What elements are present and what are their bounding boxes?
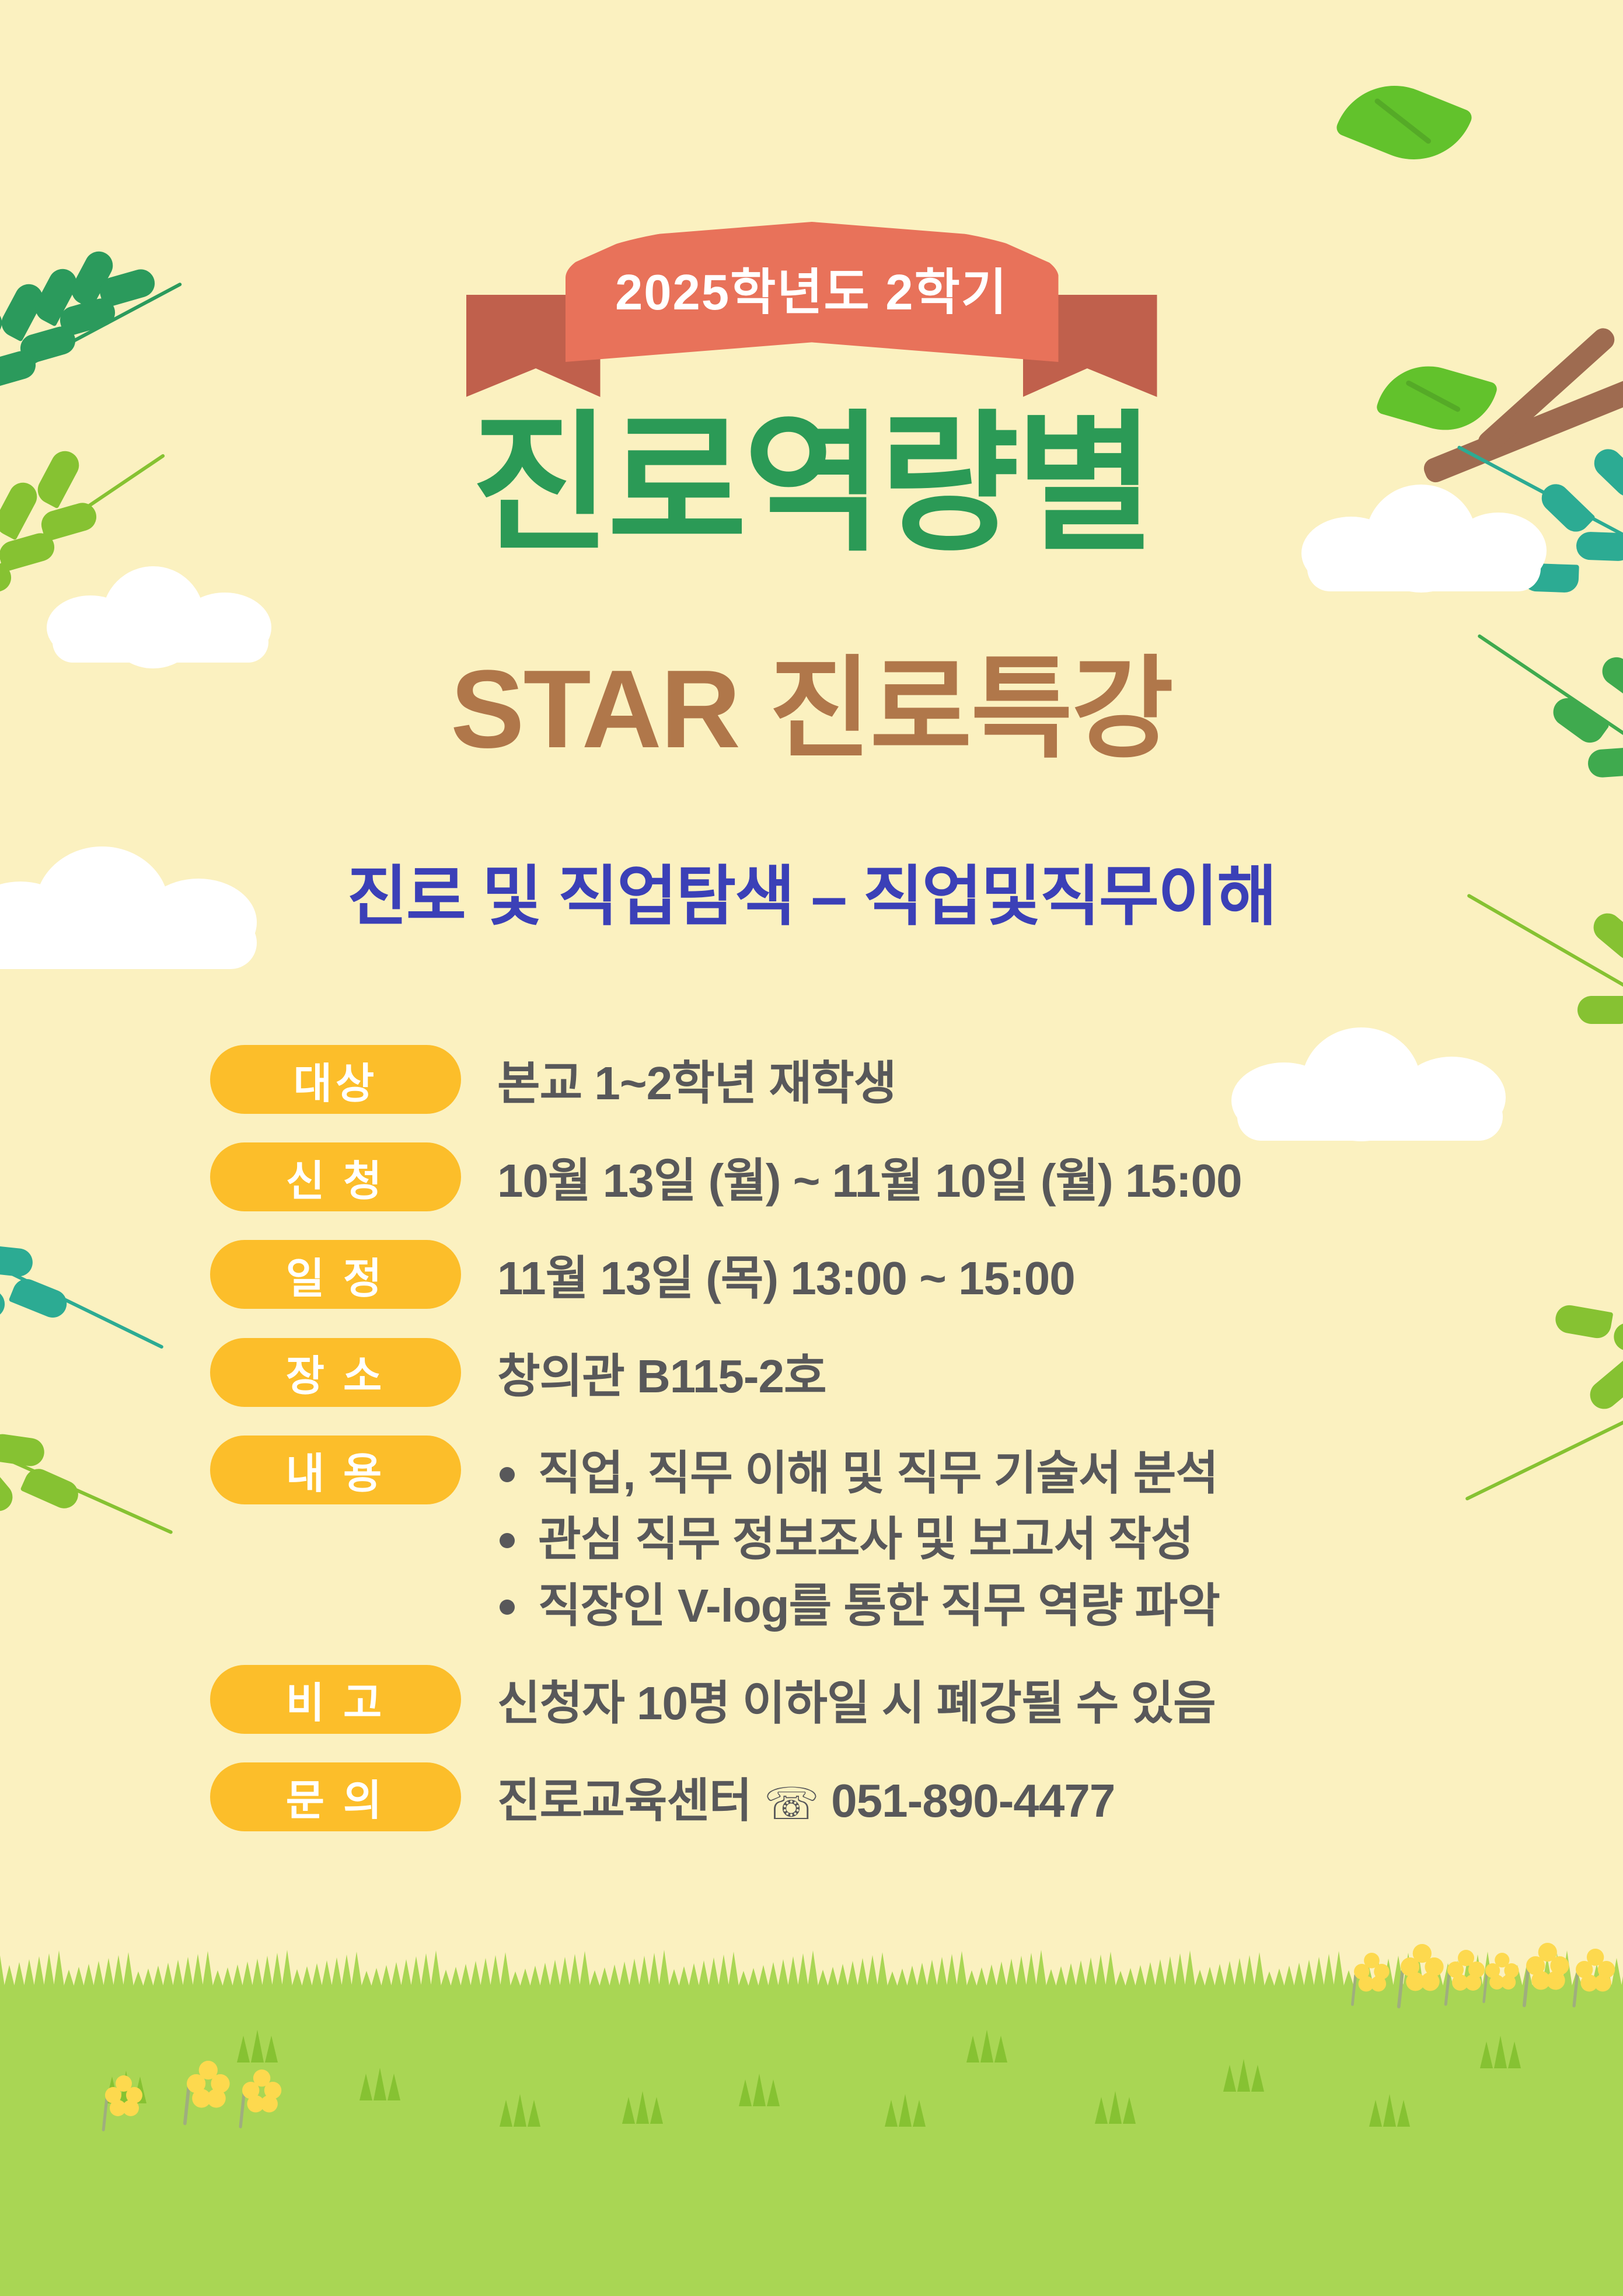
- info-label-schedule: 일 정: [210, 1240, 461, 1309]
- grass-blade: [163, 1963, 173, 1987]
- cloud-icon: [47, 566, 280, 660]
- leaf-sprig-light-lower-left: [0, 1302, 204, 1512]
- grass-blade: [1334, 1951, 1344, 1987]
- grass-blade: [1006, 1959, 1017, 1987]
- grass-blade: [1095, 1954, 1106, 1987]
- grass-blade: [996, 1961, 1007, 1987]
- info-label-note: 비 고: [210, 1665, 461, 1734]
- grass-blade: [371, 1968, 382, 1987]
- info-row-note: 비 고 신청자 10명 이하일 시 폐강될 수 있음: [210, 1665, 1465, 1737]
- grass-blade: [917, 1963, 927, 1987]
- grass-blade: [1234, 1958, 1245, 1987]
- grass-blade: [619, 1961, 630, 1987]
- grass-blade: [480, 1958, 491, 1987]
- grass-blade: [500, 1952, 511, 1987]
- grass-blade: [1046, 1969, 1056, 1987]
- grass-blade: [837, 1964, 848, 1987]
- grass-blade: [510, 1971, 521, 1987]
- grass-blade: [580, 1951, 590, 1987]
- grass-blade: [1264, 1971, 1275, 1987]
- leaf-sprig-light-right-bottom: [1442, 1255, 1623, 1477]
- grass-blade: [1244, 1955, 1255, 1987]
- ribbon-label: 2025학년도 2학기: [467, 252, 1156, 324]
- grass-blade: [818, 1970, 828, 1987]
- info-row-application: 신 청 10월 13일 (월) ~ 11월 10일 (월) 15:00: [210, 1142, 1465, 1214]
- page-title-main: 진로역량별: [0, 409, 1623, 560]
- page-title-sub: STAR 진로특강: [0, 654, 1623, 765]
- grass-blade: [1016, 1956, 1027, 1987]
- grass-blade: [679, 1966, 689, 1987]
- grass-blade: [401, 1959, 411, 1987]
- grass-blade: [272, 1953, 282, 1987]
- info-value-location: 창의관 B115-2호: [497, 1338, 1465, 1410]
- leaf-sprig-teal-left: [0, 1109, 198, 1319]
- grass-blade: [1284, 1966, 1294, 1987]
- grass-blade: [312, 1963, 322, 1987]
- grass-blade: [34, 1956, 44, 1987]
- grass-blade: [381, 1965, 392, 1987]
- list-item-label: 관심 직무 정보조사 및 보고서 작성: [538, 1513, 1193, 1565]
- grass-blade: [153, 1966, 163, 1987]
- contact-office-name: 진로교육센터: [497, 1775, 752, 1827]
- grass-blade: [1066, 1963, 1076, 1987]
- grass-blade: [1125, 1968, 1136, 1987]
- grass-blade: [451, 1967, 461, 1987]
- info-value-contact: 진로교육센터 ☏ 051-890-4477: [497, 1762, 1465, 1834]
- info-label-application: 신 청: [210, 1142, 461, 1211]
- info-table: 대상 본교 1~2학년 재학생 신 청 10월 13일 (월) ~ 11월 10…: [210, 1045, 1465, 1860]
- list-item: 직장인 V-log를 통한 직무 역량 파악: [497, 1573, 1465, 1639]
- grass-blade: [93, 1961, 104, 1987]
- grass-blade: [54, 1950, 64, 1987]
- grass-blade: [431, 1950, 441, 1987]
- grass-blade: [1254, 1952, 1265, 1987]
- grass-blade: [242, 1961, 253, 1987]
- list-item-label: 직업, 직무 이해 및 직무 기술서 분석: [538, 1447, 1218, 1499]
- bullet-dot-icon: [500, 1467, 515, 1482]
- grass-blade: [570, 1954, 580, 1987]
- list-item-label: 직장인 V-log를 통한 직무 역량 파악: [538, 1580, 1220, 1632]
- grass-ground: [0, 1987, 1623, 2296]
- grass-blade: [44, 1953, 54, 1987]
- grass-blade: [1056, 1966, 1066, 1987]
- grass-blade: [1224, 1961, 1235, 1987]
- info-label-location: 장 소: [210, 1338, 461, 1407]
- grass-blade: [1304, 1960, 1314, 1987]
- grass-blade: [322, 1960, 332, 1987]
- grass-blade: [947, 1954, 957, 1987]
- grass-blade: [669, 1969, 679, 1987]
- grass-blade: [907, 1966, 917, 1987]
- list-item: 직업, 직무 이해 및 직무 기술서 분석: [497, 1440, 1465, 1507]
- grass-blade: [808, 1950, 818, 1987]
- grass-blade: [113, 1955, 124, 1987]
- grass-blade: [857, 1958, 868, 1987]
- grass-blade: [123, 1952, 134, 1987]
- grass-blade: [391, 1962, 402, 1987]
- info-value-note: 신청자 10명 이하일 시 폐강될 수 있음: [497, 1665, 1465, 1737]
- contact-phone-number: 051-890-4477: [831, 1775, 1115, 1827]
- content-bullet-list: 직업, 직무 이해 및 직무 기술서 분석 관심 직무 정보조사 및 보고서 작…: [497, 1440, 1465, 1639]
- grass-blade: [441, 1970, 451, 1987]
- grass-blade: [1026, 1953, 1036, 1987]
- grass-blade: [203, 1951, 213, 1987]
- grass-blade: [4, 1965, 15, 1987]
- grass-blade: [361, 1971, 372, 1987]
- grass-blade: [24, 1959, 34, 1987]
- leaf-icon: [1334, 67, 1474, 178]
- grass-blade: [689, 1963, 699, 1987]
- grass-blade: [1324, 1954, 1334, 1987]
- bullet-dot-icon: [500, 1533, 515, 1548]
- grass-blade: [232, 1964, 243, 1987]
- grass-blade: [252, 1959, 263, 1987]
- grass-blade: [212, 1970, 223, 1987]
- grass-blade: [490, 1955, 501, 1987]
- grass-blade: [1314, 1957, 1324, 1987]
- grass-blade: [927, 1960, 937, 1987]
- info-value-target: 본교 1~2학년 재학생: [497, 1045, 1465, 1117]
- grass-blade: [788, 1956, 798, 1987]
- grass-blade: [728, 1952, 739, 1987]
- grass-blade: [828, 1967, 838, 1987]
- grass-blade: [302, 1966, 312, 1987]
- grass-blade: [976, 1967, 987, 1987]
- grass-blade: [1076, 1960, 1086, 1987]
- grass-blade: [738, 1971, 749, 1987]
- grass-blade: [520, 1969, 530, 1987]
- info-row-content: 내 용 직업, 직무 이해 및 직무 기술서 분석 관심 직무 정보조사 및 보…: [210, 1436, 1465, 1639]
- grass-blade: [1115, 1971, 1126, 1987]
- grass-blade: [649, 1953, 659, 1987]
- grass-blade: [1155, 1959, 1165, 1987]
- grass-blade: [460, 1964, 471, 1987]
- grass-blade: [748, 1968, 759, 1987]
- grass-blade: [1086, 1957, 1096, 1987]
- info-label-content: 내 용: [210, 1436, 461, 1504]
- grass-blade: [699, 1960, 709, 1987]
- grass-blade: [957, 1951, 967, 1987]
- bullet-dot-icon: [500, 1600, 515, 1615]
- poster-canvas: 2025학년도 2학기 진로역량별 STAR 진로특강 진로 및 직업탐색 – …: [0, 0, 1623, 2296]
- grass-blade: [83, 1964, 94, 1987]
- grass-blade: [1135, 1965, 1146, 1987]
- grass-blade: [897, 1969, 908, 1987]
- grass-blade: [282, 1950, 292, 1987]
- info-row-target: 대상 본교 1~2학년 재학생: [210, 1045, 1465, 1117]
- info-value-application: 10월 13일 (월) ~ 11월 10일 (월) 15:00: [497, 1142, 1465, 1214]
- grass-blade: [1274, 1969, 1285, 1987]
- grass-blade: [292, 1969, 302, 1987]
- grass-blade: [966, 1970, 977, 1987]
- grass-blade: [1294, 1963, 1304, 1987]
- list-item: 관심 직무 정보조사 및 보고서 작성: [497, 1506, 1465, 1573]
- grass-blade: [421, 1953, 431, 1987]
- grass-blade: [331, 1957, 342, 1987]
- grass-blade: [540, 1963, 550, 1987]
- grass-blade: [1214, 1964, 1225, 1987]
- grass-blade: [589, 1970, 600, 1987]
- grass-blade: [222, 1967, 233, 1987]
- grass-blade: [659, 1950, 669, 1987]
- grass-blade: [143, 1969, 153, 1987]
- grass-blade: [778, 1959, 788, 1987]
- grass-blade: [847, 1961, 858, 1987]
- info-row-schedule: 일 정 11월 13일 (목) 13:00 ~ 15:00: [210, 1240, 1465, 1312]
- info-row-contact: 문 의 진로교육센터 ☏ 051-890-4477: [210, 1762, 1465, 1834]
- grass-blade: [718, 1954, 729, 1987]
- grass-blade: [1036, 1950, 1046, 1987]
- grass-blade: [193, 1954, 203, 1987]
- grass-blade: [877, 1952, 888, 1987]
- grass-blade: [867, 1955, 878, 1987]
- grass-blade: [599, 1967, 610, 1987]
- grass-blade: [937, 1957, 947, 1987]
- grass-blade: [768, 1962, 779, 1987]
- grass-blade: [14, 1962, 25, 1987]
- grass-blade: [550, 1960, 560, 1987]
- grass-blade: [133, 1971, 144, 1987]
- grass-blade: [173, 1960, 183, 1987]
- grass-blade: [103, 1958, 114, 1987]
- grass-blade: [708, 1957, 719, 1987]
- grass-blade: [74, 1967, 84, 1987]
- grass-blade: [629, 1959, 640, 1987]
- grass-blade: [609, 1964, 620, 1987]
- grass-blade: [1195, 1970, 1205, 1987]
- page-subtitle: 진로 및 직업탐색 – 직업및직무이해: [0, 864, 1623, 929]
- grass-blade: [1175, 1953, 1185, 1987]
- grass-blade: [1105, 1952, 1116, 1987]
- grass-blade: [1145, 1962, 1156, 1987]
- grass-blade: [1205, 1967, 1215, 1987]
- info-value-content: 직업, 직무 이해 및 직무 기술서 분석 관심 직무 정보조사 및 보고서 작…: [497, 1436, 1465, 1639]
- grass-blade: [341, 1954, 352, 1987]
- grass-blade: [758, 1965, 769, 1987]
- info-value-schedule: 11월 13일 (목) 13:00 ~ 15:00: [497, 1240, 1465, 1312]
- grass-blade: [351, 1952, 362, 1987]
- grass-blade: [411, 1956, 421, 1987]
- grass-blade: [530, 1966, 540, 1987]
- grass-blade: [64, 1970, 74, 1987]
- grass-blade: [1343, 1970, 1354, 1987]
- grass-blade: [183, 1957, 193, 1987]
- info-label-contact: 문 의: [210, 1762, 461, 1831]
- ribbon-banner: 2025학년도 2학기: [467, 222, 1156, 391]
- info-label-target: 대상: [210, 1045, 461, 1114]
- grass-blade: [887, 1971, 898, 1987]
- grass-blade: [262, 1956, 273, 1987]
- info-row-location: 장 소 창의관 B115-2호: [210, 1338, 1465, 1410]
- grass-blade: [639, 1956, 650, 1987]
- grass-blade: [560, 1957, 570, 1987]
- grass-blade: [1185, 1950, 1195, 1987]
- grass-blade: [798, 1953, 808, 1987]
- grass-blade: [986, 1964, 997, 1987]
- grass-blade: [1165, 1956, 1175, 1987]
- telephone-icon: ☏: [764, 1782, 819, 1827]
- grass-blade: [470, 1961, 481, 1987]
